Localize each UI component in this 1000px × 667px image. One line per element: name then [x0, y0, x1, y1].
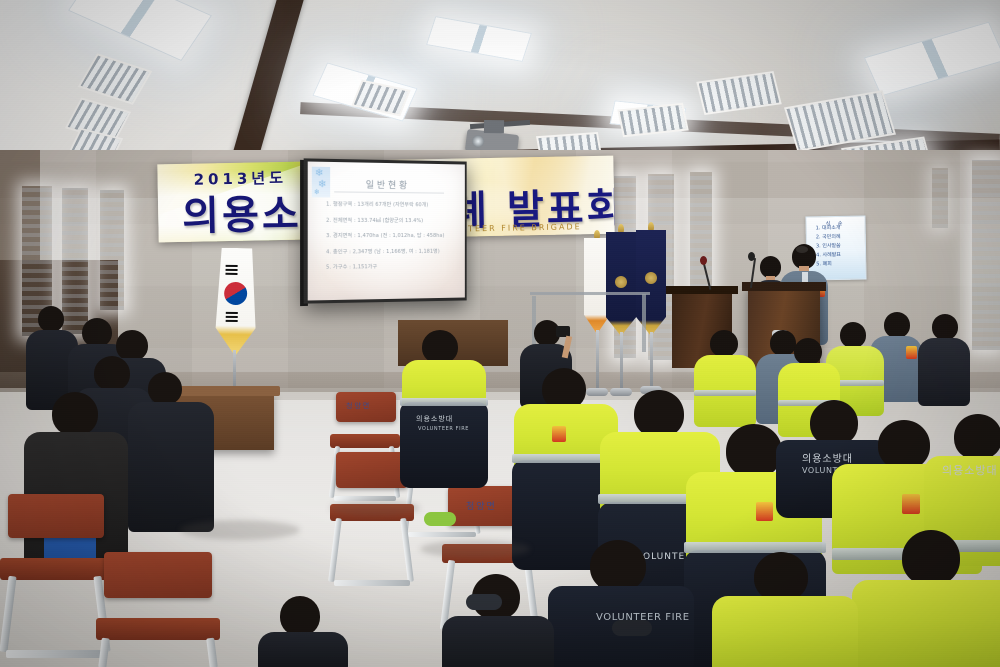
person-head [726, 424, 782, 478]
folding-chair[interactable] [96, 552, 220, 667]
chair-back: 청양면 [336, 392, 396, 422]
trigram [226, 320, 238, 322]
podium-top [742, 282, 826, 291]
person-torso [918, 338, 970, 406]
projector-lens [471, 135, 484, 148]
fire-brigade-patch-icon [902, 494, 920, 514]
person-head [116, 330, 148, 361]
slide-line: 2. 전체면적 : 133.74㎢ (함양군의 13.4%) [326, 216, 463, 223]
taeguk-circle [224, 282, 247, 305]
slide-line: 5. 가구수 : 1,151가구 [326, 263, 463, 271]
chair-label: 청양면 [346, 401, 371, 411]
hi-vis-jacket [852, 580, 1000, 667]
microphone-icon [748, 252, 755, 261]
floor-shadow [420, 540, 530, 558]
shoe [612, 620, 652, 636]
chair-back [336, 452, 408, 488]
chair-leg [206, 638, 218, 667]
hair-highlight [796, 246, 808, 253]
flag-pole [620, 332, 623, 392]
chair-leg [0, 576, 17, 652]
person-torso [128, 402, 214, 532]
slide-line: 3. 경지면적 : 1,470ha (전 : 1,012ha, 답 : 458h… [326, 232, 463, 239]
window-blind [972, 160, 1000, 350]
chair-leg [98, 638, 110, 667]
chair-leg [6, 650, 104, 658]
jacket-english-label: VOLUNTEER FIRE [418, 426, 469, 432]
person-head [902, 530, 960, 586]
jacket-korean-label: 의용소방대 [802, 450, 853, 465]
floor-shadow [330, 500, 420, 516]
trigram [226, 316, 238, 318]
trigram [225, 273, 237, 275]
stage-rail [530, 292, 650, 295]
floor-shadow [180, 520, 300, 540]
reflective-stripe [694, 390, 756, 396]
ceremonial-flag [606, 232, 636, 336]
stage-rail-post [642, 294, 646, 352]
slide-line: 4. 총인구 : 2,347명 (남 : 1,166명, 여 : 1,181명) [326, 247, 463, 255]
chair-back [104, 552, 212, 598]
slide-title: 일반현황 [308, 177, 465, 192]
fire-brigade-patch-icon [756, 502, 773, 521]
person-head [634, 390, 684, 438]
sign-item: 5. 폐회 [816, 259, 865, 269]
reflective-stripe [684, 542, 826, 553]
person-torso [258, 632, 348, 667]
person-head [932, 314, 958, 340]
flag-base [586, 388, 608, 396]
person-head [82, 318, 112, 347]
sign-title: 식 순 [807, 219, 865, 227]
jacket-korean-label: 의용소방대 [416, 414, 453, 424]
person-head [422, 330, 458, 364]
jacket-korean-label: 의용소방대 [942, 462, 998, 478]
chair-leg [328, 518, 342, 582]
folding-chair[interactable] [0, 494, 110, 666]
reflective-stripe [400, 398, 488, 406]
projector-bracket [484, 120, 504, 133]
secondary-podium-top [666, 286, 738, 294]
flag-emblem-icon [615, 276, 627, 288]
shoe [424, 512, 456, 526]
chair-label: 청양면 [466, 499, 497, 512]
person-head [954, 414, 1000, 460]
chair-back [8, 494, 104, 538]
trigram [226, 269, 238, 271]
person-head [770, 330, 796, 356]
fire-brigade-patch-icon [906, 346, 917, 359]
scene-photograph: 2013년도 의용소방 례 발표회 VOLUNTEER FIRE BRIGADE… [0, 0, 1000, 667]
chair-seat [96, 618, 220, 640]
person-head [760, 256, 781, 278]
chair-leg [400, 518, 414, 582]
person-head [94, 356, 130, 391]
slide-body: 1. 행정구역 : 13개리 67개반 (자연부락 60개) 2. 전체면적 :… [326, 200, 463, 279]
chair-leg [334, 580, 410, 586]
person-head [754, 552, 808, 602]
person-head [52, 392, 98, 436]
hi-vis-jacket [712, 596, 858, 667]
ceremonial-flag [636, 230, 666, 336]
person-head [148, 372, 182, 405]
microphone-icon [700, 256, 707, 265]
person-head [280, 596, 320, 636]
shoe [466, 594, 502, 610]
flag-pole [650, 332, 653, 390]
person-head [590, 540, 646, 592]
person-head [884, 312, 910, 338]
window-blind [932, 168, 948, 228]
window-blind [100, 190, 124, 310]
window-blind [62, 188, 88, 334]
fire-brigade-patch-icon [552, 426, 566, 442]
slide-line: 1. 행정구역 : 13개리 67개반 (자연부락 60개) [326, 200, 463, 208]
flag-pole [596, 330, 599, 392]
person-head [794, 338, 822, 365]
trigram [226, 265, 238, 267]
person-head [38, 306, 64, 332]
flag-emblem-icon [645, 272, 657, 284]
person-head [840, 322, 866, 348]
trigram [226, 312, 238, 314]
flag-base [610, 388, 632, 396]
person-head [878, 420, 930, 470]
person-torso [442, 616, 554, 667]
projection-screen: ❄ ❄ ❄ 일반현황 1. 행정구역 : 13개리 67개반 (자연부락 60개… [308, 161, 465, 300]
person-head [710, 330, 738, 357]
